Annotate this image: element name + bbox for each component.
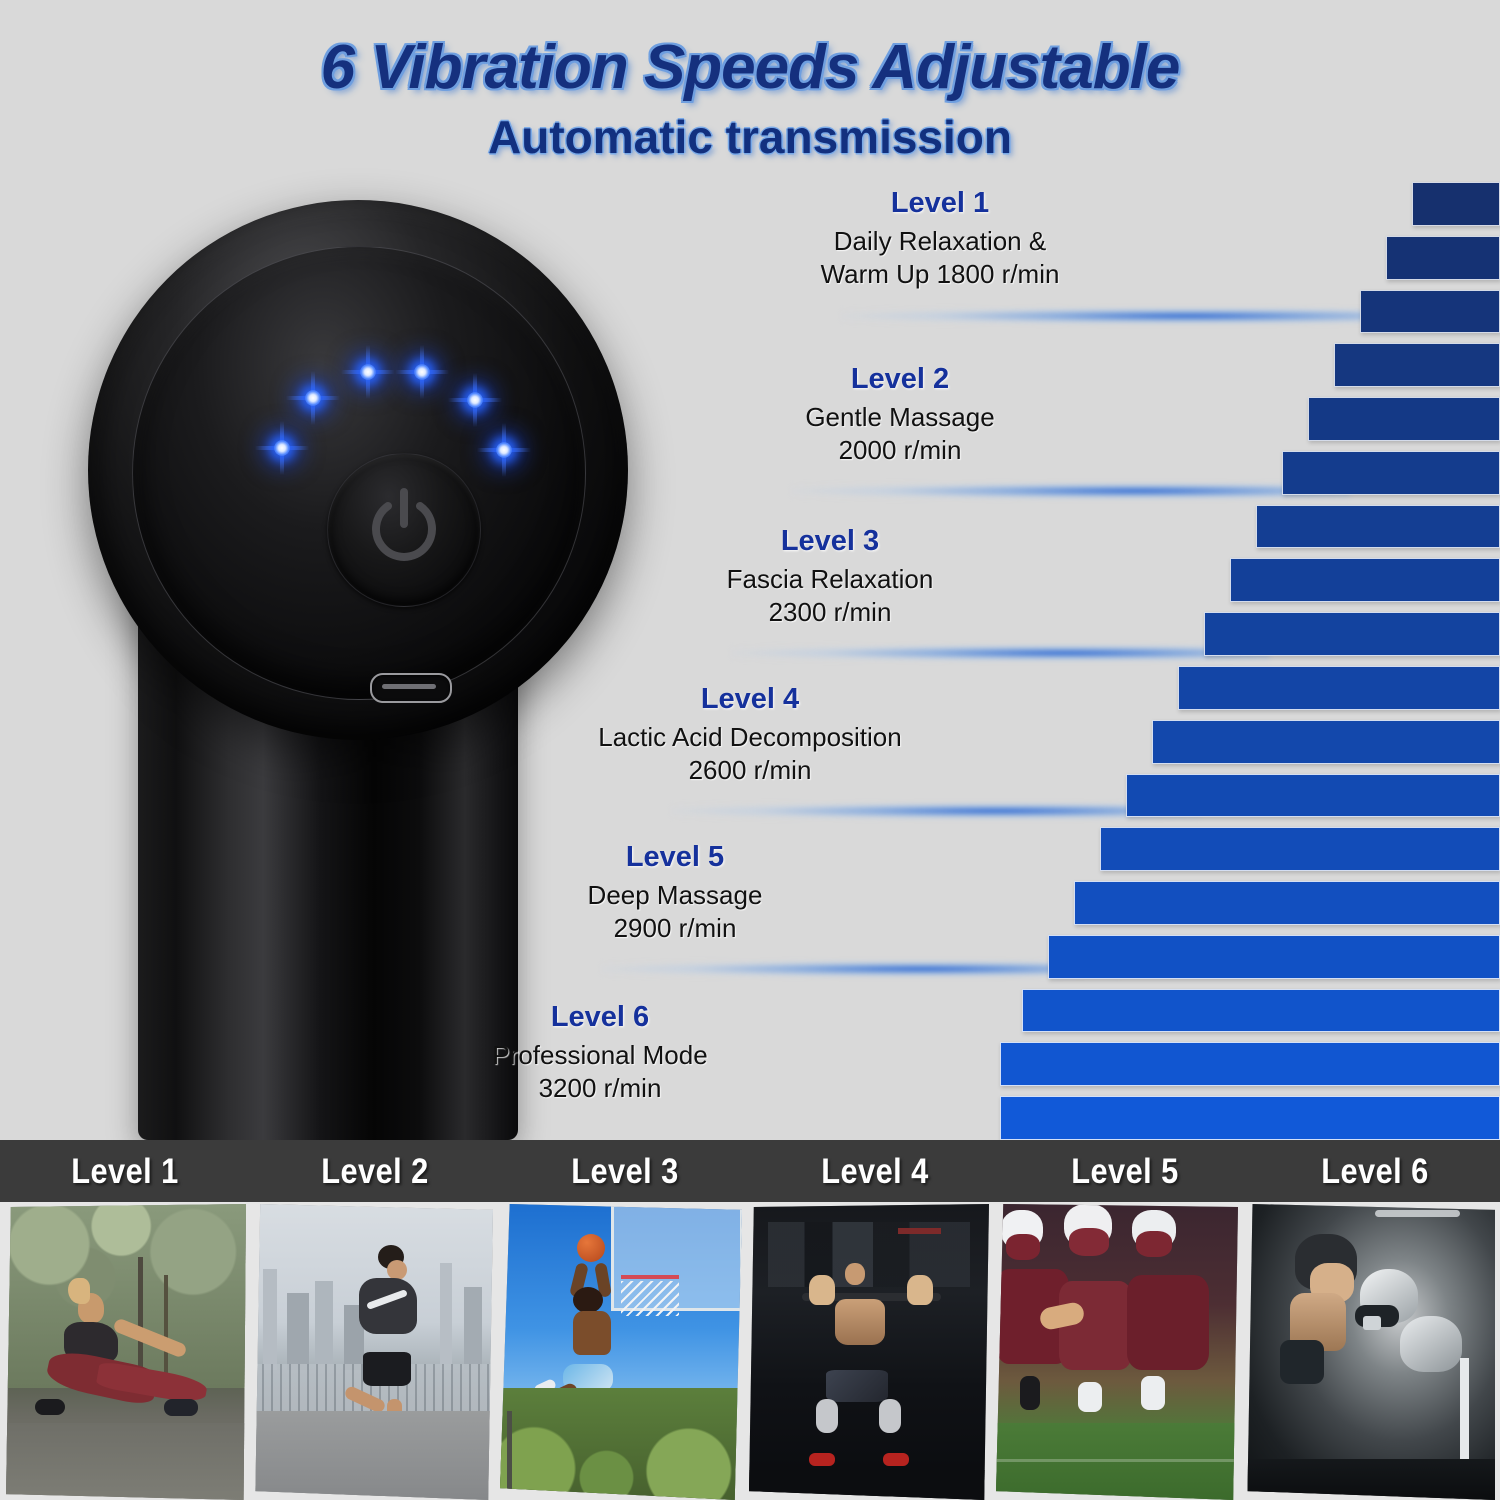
level-desc-line2: 3200 r/min bbox=[539, 1073, 662, 1103]
chart-bar bbox=[1256, 505, 1500, 549]
page-title: 6 Vibration Speeds Adjustable bbox=[0, 32, 1500, 103]
device-cap-ring bbox=[132, 246, 586, 700]
level-title: Level 4 bbox=[470, 684, 1030, 714]
strip-label-3: Level 3 bbox=[515, 1148, 735, 1196]
level-desc-line2: 2900 r/min bbox=[614, 913, 737, 943]
photo-level-4 bbox=[749, 1204, 989, 1500]
level-desc-line1: Professional Mode bbox=[492, 1040, 707, 1070]
header: 6 Vibration Speeds Adjustable Automatic … bbox=[0, 0, 1500, 180]
photo-level-1 bbox=[6, 1204, 246, 1500]
led-indicator-6 bbox=[477, 423, 531, 477]
photo-level-6 bbox=[1245, 1204, 1495, 1500]
chart-bar bbox=[1334, 343, 1500, 387]
chart-bar bbox=[1000, 1042, 1500, 1086]
level-description: Deep Massage 2900 r/min bbox=[395, 879, 955, 944]
chart-bar bbox=[1230, 558, 1500, 602]
led-indicator-1 bbox=[255, 421, 309, 475]
photo-level-5 bbox=[996, 1204, 1238, 1500]
chart-bar bbox=[1022, 989, 1500, 1033]
chart-bar bbox=[1204, 612, 1500, 656]
strip-label-1: Level 1 bbox=[15, 1148, 235, 1196]
massage-gun-illustration bbox=[80, 190, 660, 1140]
chart-bar bbox=[1386, 236, 1500, 280]
level-title: Level 5 bbox=[395, 842, 955, 872]
level-description: Professional Mode 3200 r/min bbox=[320, 1039, 880, 1104]
level-item-4: Level 4 Lactic Acid Decomposition 2600 r… bbox=[470, 684, 1030, 786]
power-button[interactable] bbox=[327, 453, 481, 607]
chart-bar bbox=[1074, 881, 1500, 925]
led-indicator-4 bbox=[395, 345, 449, 399]
device-head-cap bbox=[88, 200, 628, 740]
chart-bar bbox=[1126, 774, 1500, 818]
chart-bar bbox=[1282, 451, 1500, 495]
level-title: Level 6 bbox=[320, 1002, 880, 1032]
strip-label-6: Level 6 bbox=[1265, 1148, 1485, 1196]
level-item-6: Level 6 Professional Mode 3200 r/min bbox=[320, 1002, 880, 1104]
chart-bar bbox=[1000, 1096, 1500, 1140]
photo-level-3 bbox=[500, 1204, 742, 1500]
strip-label-2: Level 2 bbox=[265, 1148, 485, 1196]
level-desc-line1: Fascia Relaxation bbox=[727, 564, 934, 594]
level-desc-line2: 2300 r/min bbox=[769, 597, 892, 627]
page-subtitle: Automatic transmission bbox=[0, 110, 1500, 164]
photo-level-2 bbox=[253, 1204, 493, 1500]
usb-c-port-icon bbox=[370, 673, 452, 703]
power-icon bbox=[368, 488, 440, 568]
level-desc-line2: 2000 r/min bbox=[839, 435, 962, 465]
level-item-5: Level 5 Deep Massage 2900 r/min bbox=[395, 842, 955, 944]
led-indicator-5 bbox=[448, 373, 502, 427]
chart-bar bbox=[1308, 397, 1500, 441]
level-desc-line1: Deep Massage bbox=[588, 880, 763, 910]
chart-bar bbox=[1178, 666, 1500, 710]
level-description: Lactic Acid Decomposition 2600 r/min bbox=[470, 721, 1030, 786]
strip-label-5: Level 5 bbox=[1015, 1148, 1235, 1196]
chart-bar bbox=[1412, 182, 1500, 226]
led-indicator-3 bbox=[341, 345, 395, 399]
level-desc-line1: Lactic Acid Decomposition bbox=[598, 722, 901, 752]
led-indicator-2 bbox=[286, 371, 340, 425]
chart-bar bbox=[1152, 720, 1500, 764]
chart-bar bbox=[1048, 935, 1500, 979]
chart-bar bbox=[1100, 827, 1500, 871]
chart-bar bbox=[1360, 290, 1500, 334]
activity-photo-strip: Level 1 Level 2 Level 3 Level 4 Level 5 … bbox=[0, 1140, 1500, 1500]
level-desc-line2: 2600 r/min bbox=[689, 755, 812, 785]
speed-staircase-bar-chart bbox=[1000, 182, 1500, 1140]
strip-label-4: Level 4 bbox=[765, 1148, 985, 1196]
level-desc-line1: Gentle Massage bbox=[805, 402, 994, 432]
